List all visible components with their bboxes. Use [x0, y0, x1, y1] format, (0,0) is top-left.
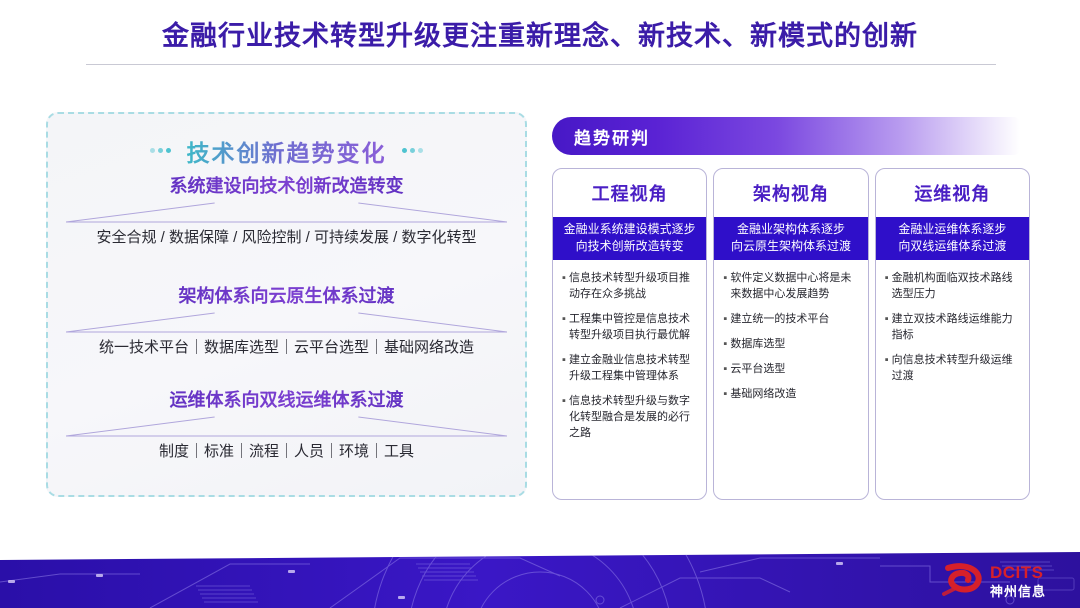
card-band: 金融业架构体系逐步 向云原生架构体系过渡	[714, 217, 867, 260]
card-body: ▪ 金融机构面临双技术路线选型压力 ▪ 建立双技术路线运维能力指标 ▪ 向信息技…	[876, 260, 1029, 499]
logo-swoosh-icon	[944, 566, 979, 594]
stage-3-title: 运维体系向双线运维体系过渡	[48, 386, 525, 412]
list-item: ▪ 工程集中管控是信息技术转型升级项目执行最优解	[559, 311, 698, 343]
card-band-line: 金融业架构体系逐步	[717, 221, 864, 238]
list-item-text: 向信息技术转型升级运维过渡	[892, 352, 1021, 384]
bullet-icon: ▪	[720, 361, 730, 377]
card-band-line: 金融业运维体系逐步	[879, 221, 1026, 238]
trend-analysis-header: 趋势研判	[552, 117, 1020, 155]
list-item: ▪ 信息技术转型升级与数字化转型融合是发展的必行之路	[559, 393, 698, 441]
bullet-icon: ▪	[720, 386, 730, 402]
list-item-text: 数据库选型	[730, 336, 859, 352]
card-architecture-perspective[interactable]: 架构视角 金融业架构体系逐步 向云原生架构体系过渡 ▪ 软件定义数据中心将是未来…	[713, 168, 868, 500]
list-item: ▪ 信息技术转型升级项目推动存在众多挑战	[559, 270, 698, 302]
stage-1-title: 系统建设向技术创新改造转变	[48, 172, 525, 198]
bullet-icon: ▪	[559, 352, 569, 384]
card-body: ▪ 信息技术转型升级项目推动存在众多挑战 ▪ 工程集中管控是信息技术转型升级项目…	[553, 260, 706, 499]
dots-left-icon	[148, 140, 172, 158]
bullet-icon: ▪	[559, 311, 569, 343]
bullet-icon: ▪	[720, 270, 730, 302]
card-band: 金融业运维体系逐步 向双线运维体系过渡	[876, 217, 1029, 260]
list-item-text: 建立统一的技术平台	[730, 311, 859, 327]
list-item-text: 云平台选型	[730, 361, 859, 377]
trend-analysis-label: 趋势研判	[574, 124, 650, 149]
list-item: ▪ 基础网络改造	[720, 386, 859, 402]
stage-2-items: 统一技术平台｜数据库选型｜云平台选型｜基础网络改造	[48, 336, 525, 357]
list-item: ▪ 金融机构面临双技术路线选型压力	[882, 270, 1021, 302]
bullet-icon: ▪	[559, 270, 569, 302]
card-band-line: 金融业系统建设模式逐步	[556, 221, 703, 238]
perspective-cards: 工程视角 金融业系统建设模式逐步 向技术创新改造转变 ▪ 信息技术转型升级项目推…	[552, 168, 1030, 500]
title-divider	[86, 64, 996, 65]
panel-heading: 技术创新趋势变化	[48, 134, 525, 168]
card-band-line: 向双线运维体系过渡	[879, 238, 1026, 255]
list-item-text: 软件定义数据中心将是未来数据中心发展趋势	[730, 270, 859, 302]
list-item-text: 工程集中管控是信息技术转型升级项目执行最优解	[569, 311, 698, 343]
stage-2-title: 架构体系向云原生体系过渡	[48, 282, 525, 308]
stage-3-items: 制度｜标准｜流程｜人员｜环境｜工具	[48, 440, 525, 461]
list-item-text: 信息技术转型升级项目推动存在众多挑战	[569, 270, 698, 302]
list-item: ▪ 数据库选型	[720, 336, 859, 352]
stage-2: 架构体系向云原生体系过渡 统一技术平台｜数据库选型｜云平台选型｜基础网络改造	[48, 282, 525, 357]
banner-graphic	[0, 552, 1080, 608]
list-item: ▪ 向信息技术转型升级运维过渡	[882, 352, 1021, 384]
card-engineering-perspective[interactable]: 工程视角 金融业系统建设模式逐步 向技术创新改造转变 ▪ 信息技术转型升级项目推…	[552, 168, 707, 500]
list-item-text: 基础网络改造	[730, 386, 859, 402]
list-item-text: 金融机构面临双技术路线选型压力	[892, 270, 1021, 302]
stage-3-funnel-icon	[66, 416, 507, 438]
stage-1: 系统建设向技术创新改造转变 安全合规 / 数据保障 / 风险控制 / 可持续发展…	[48, 172, 525, 247]
stage-1-funnel-icon	[66, 202, 507, 224]
card-band-line: 向云原生架构体系过渡	[717, 238, 864, 255]
logo-subtext: 神州信息	[990, 584, 1046, 599]
stage-2-funnel-icon	[66, 312, 507, 334]
page-title: 金融行业技术转型升级更注重新理念、新技术、新模式的创新	[0, 14, 1080, 53]
list-item: ▪ 云平台选型	[720, 361, 859, 377]
card-band: 金融业系统建设模式逐步 向技术创新改造转变	[553, 217, 706, 260]
panel-heading-label: 技术创新趋势变化	[187, 140, 387, 166]
list-item-text: 信息技术转型升级与数字化转型融合是发展的必行之路	[569, 393, 698, 441]
list-item-text: 建立双技术路线运维能力指标	[892, 311, 1021, 343]
logo-wordmark: DCITS	[990, 563, 1044, 582]
dcits-logo: DCITS 神州信息	[938, 558, 1066, 602]
card-title: 运维视角	[876, 169, 1029, 217]
list-item: ▪ 软件定义数据中心将是未来数据中心发展趋势	[720, 270, 859, 302]
bullet-icon: ▪	[720, 311, 730, 327]
tech-trend-panel: 技术创新趋势变化 系统建设向技术创新改造转变 安全合规 / 数据保障 / 风险控…	[46, 112, 527, 497]
card-body: ▪ 软件定义数据中心将是未来数据中心发展趋势 ▪ 建立统一的技术平台 ▪ 数据库…	[714, 260, 867, 499]
bullet-icon: ▪	[720, 336, 730, 352]
list-item: ▪ 建立双技术路线运维能力指标	[882, 311, 1021, 343]
dots-right-icon	[401, 140, 425, 158]
list-item-text: 建立金融业信息技术转型升级工程集中管理体系	[569, 352, 698, 384]
bullet-icon: ▪	[882, 352, 892, 384]
card-band-line: 向技术创新改造转变	[556, 238, 703, 255]
footer-banner: DCITS 神州信息	[0, 552, 1080, 608]
list-item: ▪ 建立金融业信息技术转型升级工程集中管理体系	[559, 352, 698, 384]
card-title: 架构视角	[714, 169, 867, 217]
bullet-icon: ▪	[882, 311, 892, 343]
bullet-icon: ▪	[559, 393, 569, 441]
bullet-icon: ▪	[882, 270, 892, 302]
list-item: ▪ 建立统一的技术平台	[720, 311, 859, 327]
card-operations-perspective[interactable]: 运维视角 金融业运维体系逐步 向双线运维体系过渡 ▪ 金融机构面临双技术路线选型…	[875, 168, 1030, 500]
stage-3: 运维体系向双线运维体系过渡 制度｜标准｜流程｜人员｜环境｜工具	[48, 386, 525, 461]
card-title: 工程视角	[553, 169, 706, 217]
stage-1-items: 安全合规 / 数据保障 / 风险控制 / 可持续发展 / 数字化转型	[48, 226, 525, 247]
